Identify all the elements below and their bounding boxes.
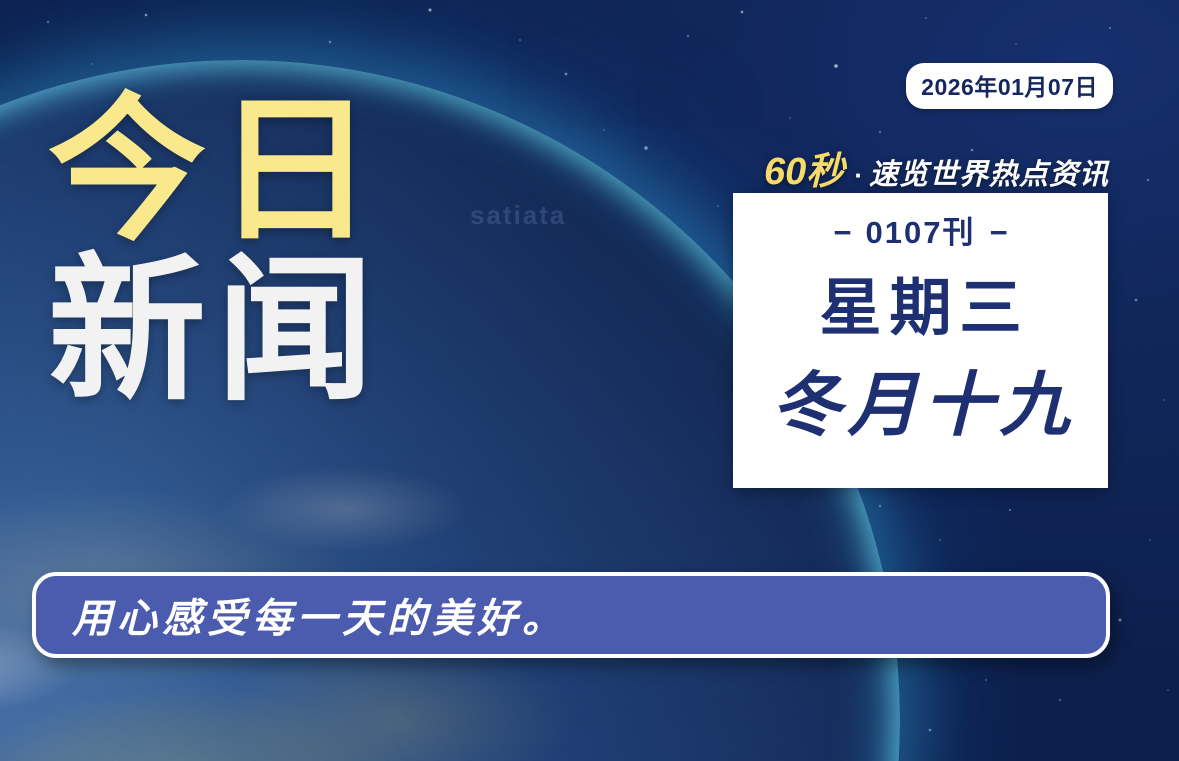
lunar-date-label: 冬月十九 [766, 370, 1076, 440]
tagline: 60秒 · 速览世界热点资讯 [764, 140, 1109, 195]
watermark-text: satiata [470, 200, 566, 231]
issue-dash-right: − [975, 215, 1021, 250]
issue-line: −0107刊− [819, 207, 1021, 252]
page-title-line-1: 今日 [48, 96, 384, 248]
weekday-label: 星期三 [811, 278, 1029, 340]
issue-number: 0107刊 [866, 215, 976, 250]
date-badge: 2026年01月07日 [906, 63, 1113, 109]
motto-banner: 用心感受每一天的美好。 [32, 572, 1110, 658]
issue-dash-left: − [819, 215, 865, 250]
issue-card: −0107刊− 星期三 冬月十九 [733, 193, 1108, 488]
page-title-line-2: 新闻 [48, 256, 384, 408]
tagline-text: 速览世界热点资讯 [869, 151, 1109, 193]
tagline-separator-dot: · [844, 160, 869, 191]
news-poster: satiata 今日 新闻 2026年01月07日 60秒 · 速览世界热点资讯… [0, 0, 1179, 761]
page-title: 今日 新闻 [48, 96, 384, 407]
motto-text: 用心感受每一天的美好。 [36, 586, 567, 644]
tagline-highlight: 60秒 [764, 140, 844, 195]
